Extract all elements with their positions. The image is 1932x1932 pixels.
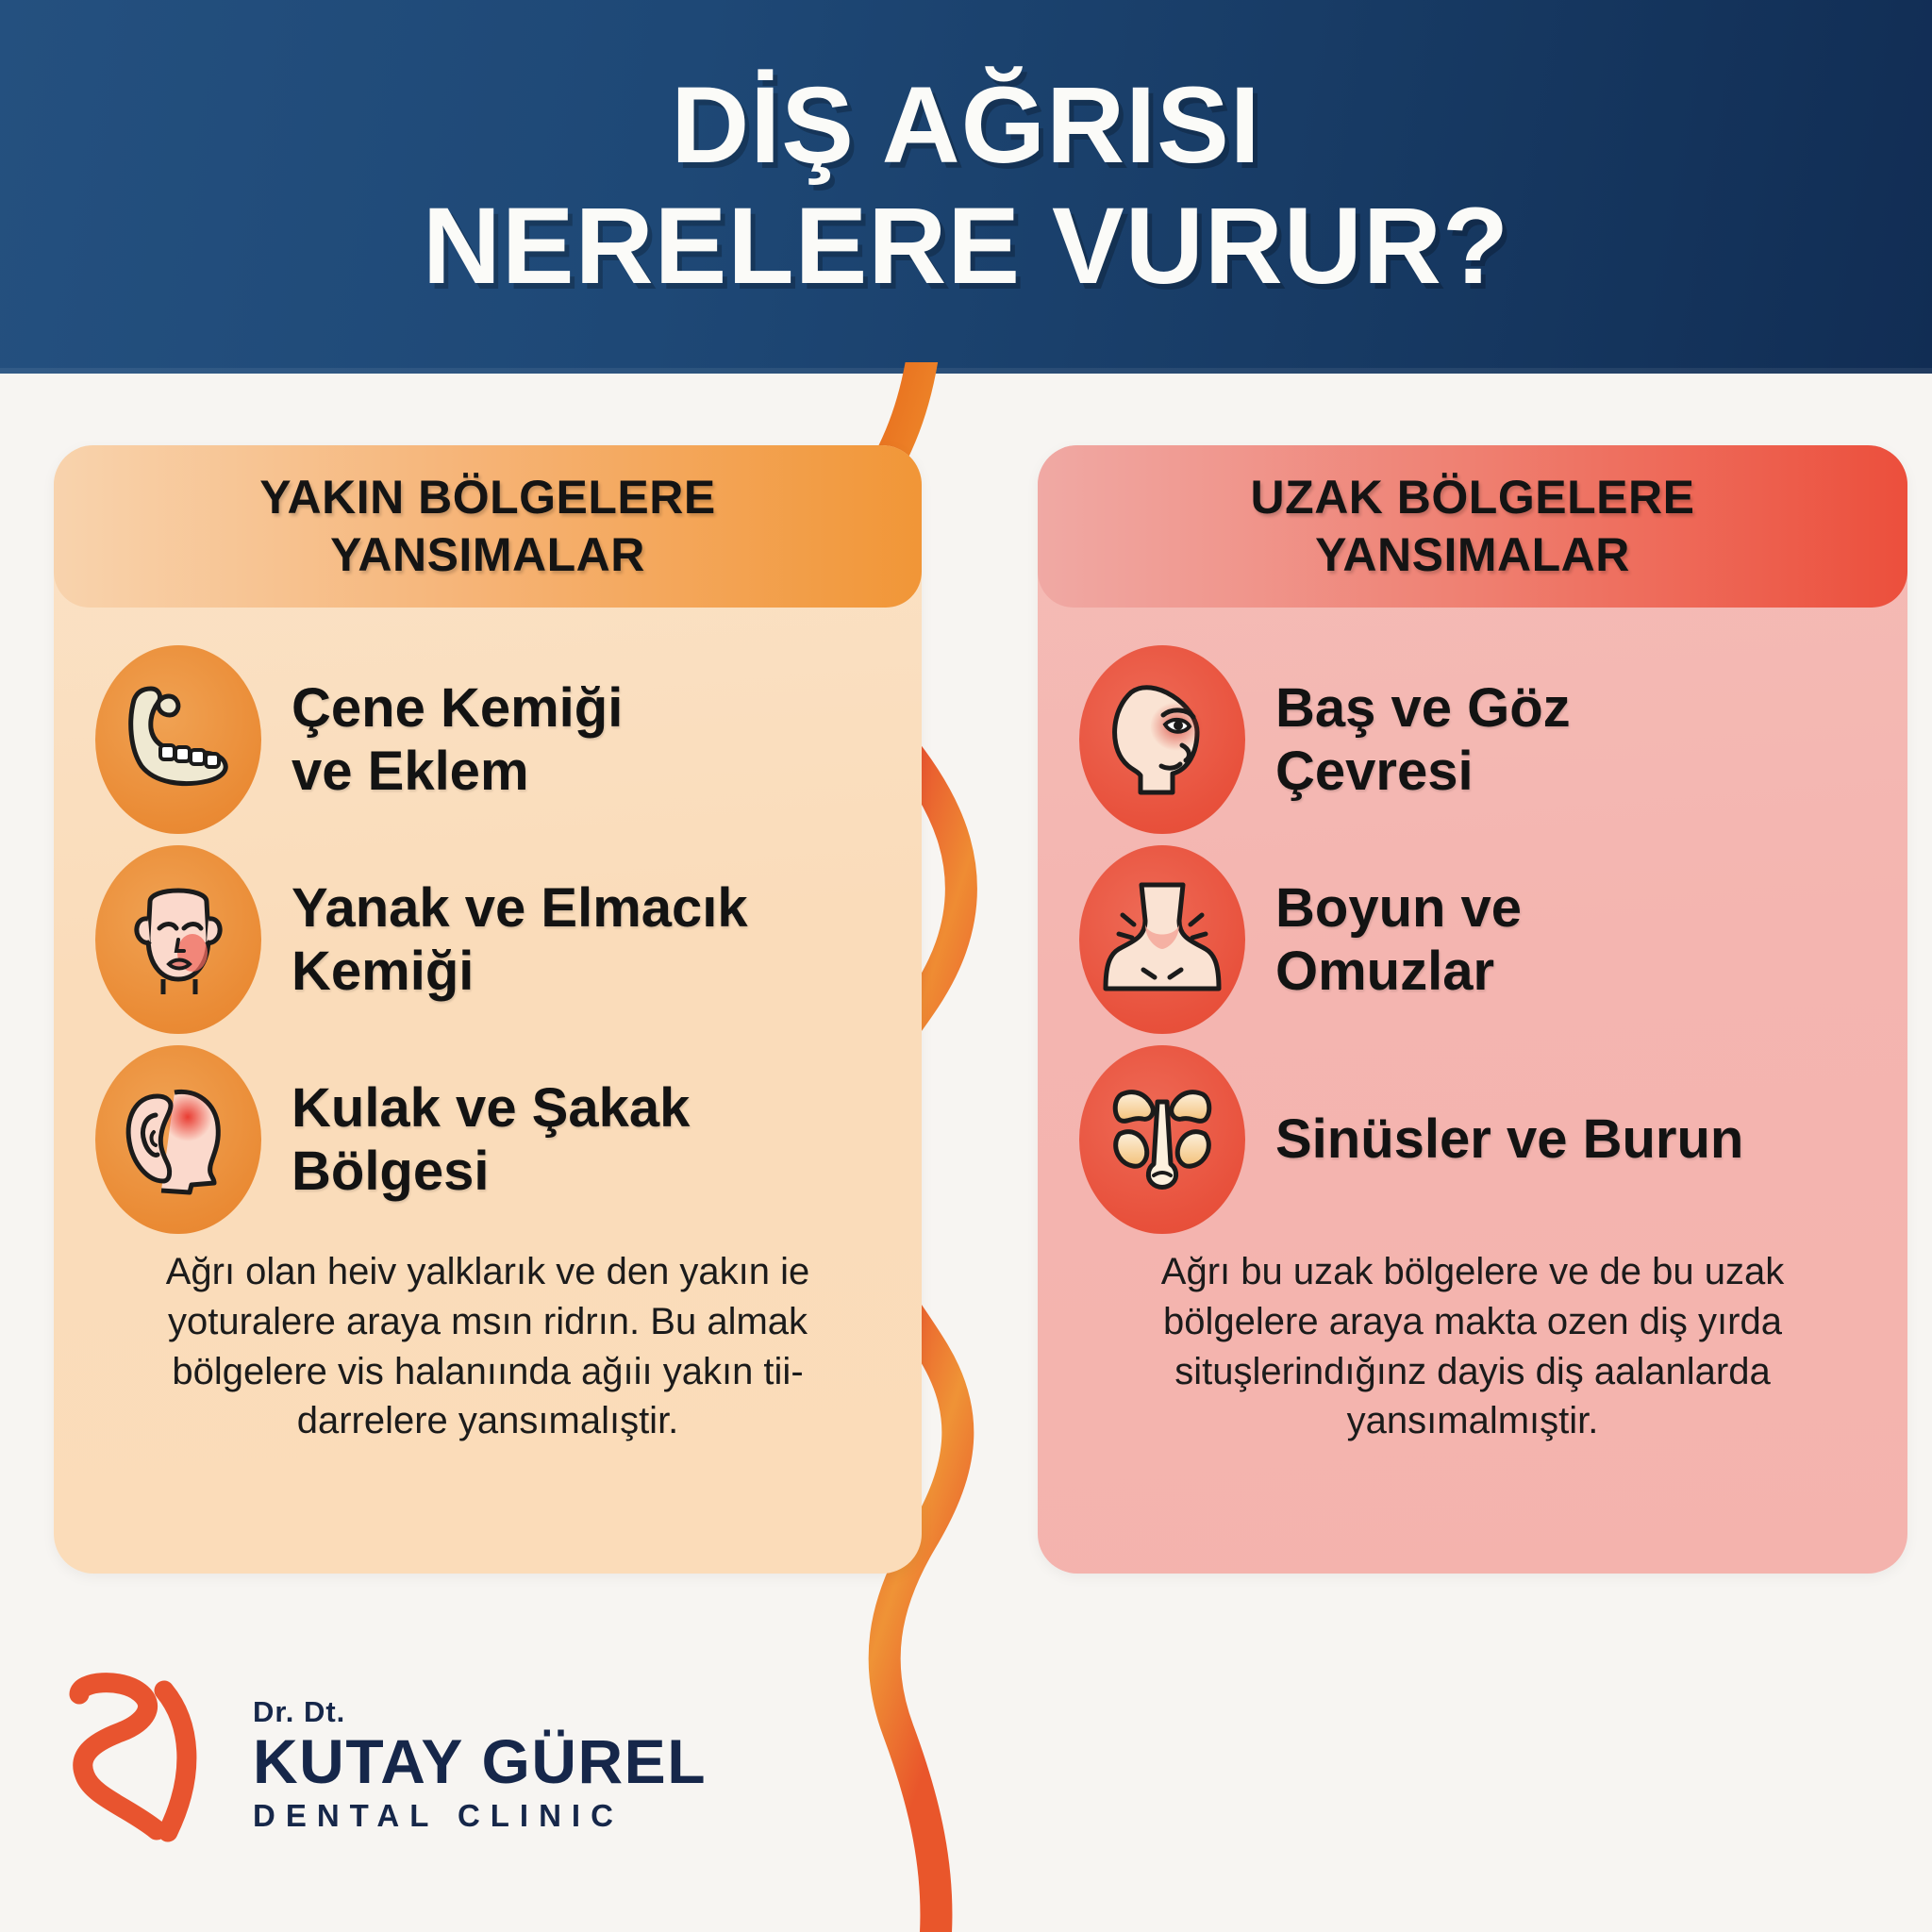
near-item-3-line-2: Bölgesi: [291, 1140, 690, 1203]
ear-temple-pain-icon: [95, 1045, 261, 1234]
list-item-label: Çene Kemiği ve Eklem: [291, 676, 623, 804]
near-item-3-line-1: Kulak ve Şakak: [291, 1076, 690, 1140]
list-item: Kulak ve Şakak Bölgesi: [95, 1040, 884, 1240]
list-item-label: Baş ve Göz Çevresi: [1275, 676, 1571, 804]
list-item: Sinüsler ve Burun: [1079, 1040, 1870, 1240]
far-regions-note: Ağrı bu uzak bölgelere ve de bu uzak böl…: [1038, 1240, 1907, 1446]
list-item-label: Yanak ve Elmacık Kemiği: [291, 876, 748, 1004]
far-note-line-4: yansımalmıştir.: [1087, 1396, 1858, 1446]
far-item-1-line-2: Çevresi: [1275, 740, 1571, 803]
clinic-logo-subtitle: DENTAL CLINIC: [253, 1800, 707, 1831]
near-heading-line-1: YAKIN BÖLGELERE: [259, 469, 716, 526]
far-note-line-2: bölgelere araya makta ozen diş yırda: [1087, 1297, 1858, 1347]
far-note-line-3: situşlerindığınz dayis diş aalanlarda: [1087, 1347, 1858, 1397]
near-item-1-line-1: Çene Kemiği: [291, 676, 623, 740]
far-heading-line-1: UZAK BÖLGELERE: [1251, 469, 1695, 526]
page-header: DİŞ AĞRISI NERELERE VURUR?: [0, 0, 1932, 374]
far-heading-line-2: YANSIMALAR: [1251, 526, 1695, 584]
list-item: Baş ve Göz Çevresi: [1079, 640, 1870, 840]
near-item-2-line-2: Kemiği: [291, 940, 748, 1003]
head-eye-pain-icon: [1079, 645, 1245, 834]
clinic-logo-mark: [58, 1670, 228, 1858]
far-item-1-line-1: Baş ve Göz: [1275, 676, 1571, 740]
near-note-line-3: bölgelere vis halanıında ağıiı yakın tii…: [103, 1347, 873, 1397]
clinic-logo-name: KUTAY GÜREL: [253, 1730, 707, 1792]
neck-shoulder-pain-icon: [1079, 845, 1245, 1034]
far-note-line-1: Ağrı bu uzak bölgelere ve de bu uzak: [1087, 1247, 1858, 1297]
clinic-logo: Dr. Dt. KUTAY GÜREL DENTAL CLINIC: [58, 1670, 707, 1858]
list-item: Çene Kemiği ve Eklem: [95, 640, 884, 840]
list-item-label: Kulak ve Şakak Bölgesi: [291, 1076, 690, 1204]
near-note-line-1: Ağrı olan heiv yalklarık ve den yakın ie: [103, 1247, 873, 1297]
list-item-label: Boyun ve Omuzlar: [1275, 876, 1522, 1004]
near-note-line-4: darrelere yansımalıştir.: [103, 1396, 873, 1446]
near-regions-note: Ağrı olan heiv yalklarık ve den yakın ie…: [54, 1240, 922, 1446]
page-title-line-1: DİŞ AĞRISI: [671, 69, 1261, 184]
face-cheek-pain-icon: [95, 845, 261, 1034]
far-regions-card-header: UZAK BÖLGELERE YANSIMALAR: [1038, 445, 1907, 608]
clinic-logo-text: Dr. Dt. KUTAY GÜREL DENTAL CLINIC: [253, 1697, 707, 1831]
near-regions-card-header-text: YAKIN BÖLGELERE YANSIMALAR: [259, 469, 716, 584]
far-item-2-line-1: Boyun ve: [1275, 876, 1522, 940]
list-item: Yanak ve Elmacık Kemiği: [95, 840, 884, 1040]
page-title-line-2: NERELERE VURUR?: [423, 190, 1509, 305]
far-regions-item-list: Baş ve Göz Çevresi Boyun ve Omu: [1038, 608, 1907, 1240]
near-note-line-2: yoturalere araya msın ridrın. Bu almak: [103, 1297, 873, 1347]
sinus-nose-icon: [1079, 1045, 1245, 1234]
jaw-bone-icon: [95, 645, 261, 834]
far-regions-card: UZAK BÖLGELERE YANSIMALAR: [1038, 445, 1907, 1574]
near-heading-line-2: YANSIMALAR: [259, 526, 716, 584]
near-item-1-line-2: ve Eklem: [291, 740, 623, 803]
far-item-3-line-1: Sinüsler ve Burun: [1275, 1108, 1743, 1171]
near-item-2-line-1: Yanak ve Elmacık: [291, 876, 748, 940]
list-item-label: Sinüsler ve Burun: [1275, 1108, 1743, 1171]
near-regions-card: YAKIN BÖLGELERE YANSIMALAR Ç: [54, 445, 922, 1574]
near-regions-card-header: YAKIN BÖLGELERE YANSIMALAR: [54, 445, 922, 608]
far-item-2-line-2: Omuzlar: [1275, 940, 1522, 1003]
list-item: Boyun ve Omuzlar: [1079, 840, 1870, 1040]
near-regions-item-list: Çene Kemiği ve Eklem Ya: [54, 608, 922, 1240]
far-regions-card-header-text: UZAK BÖLGELERE YANSIMALAR: [1251, 469, 1695, 584]
clinic-logo-prefix: Dr. Dt.: [253, 1697, 707, 1726]
